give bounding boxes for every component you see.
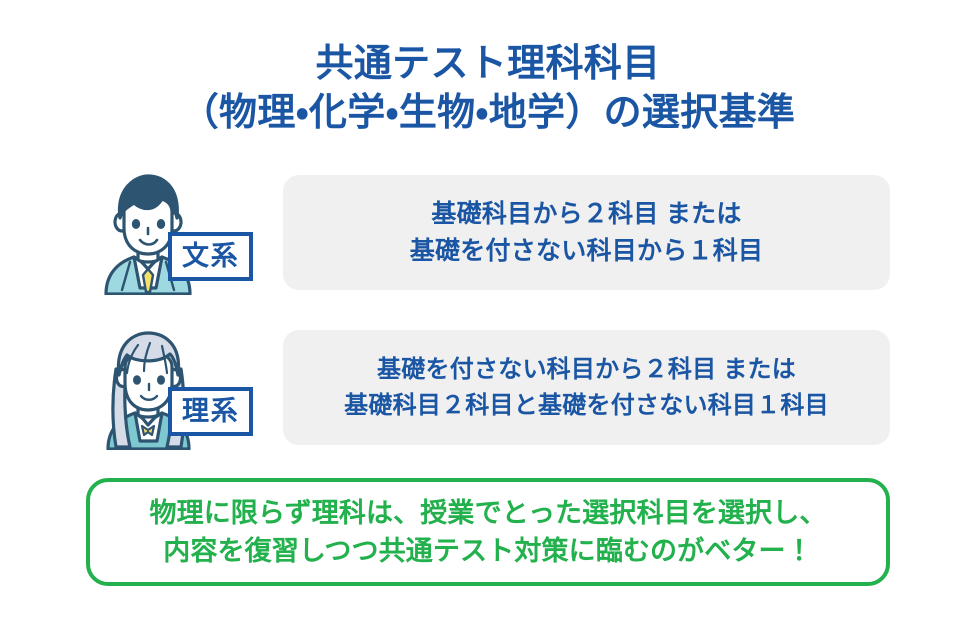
message-line-2: 基礎を付さない科目から１科目 — [410, 233, 764, 270]
page-title-line-2: （物理・化学・生物・地学）の選択基準 — [0, 89, 976, 138]
page-title: 共通テスト理科科目 （物理・化学・生物・地学）の選択基準 — [0, 40, 976, 139]
stream-row-bunkei: 文系 基礎科目から２科目 または 基礎を付さない科目から１科目 — [0, 170, 976, 295]
page-title-line-1: 共通テスト理科科目 — [0, 40, 976, 89]
avatar-group-bunkei: 文系 — [86, 170, 271, 295]
avatar-group-rikei: 理系 — [86, 325, 271, 450]
message-text-rikei: 基礎を付さない科目から２科目 または 基礎科目２科目と基礎を付さない科目１科目 — [344, 352, 829, 423]
advice-text: 物理に限らず理科は、授業でとった選択科目を選択し、 内容を復習しつつ共通テスト対… — [149, 494, 826, 571]
message-line-1: 基礎を付さない科目から２科目 または — [344, 352, 829, 388]
advice-line-2: 内容を復習しつつ共通テスト対策に臨むのがベター！ — [149, 532, 826, 570]
message-box-rikei: 基礎を付さない科目から２科目 または 基礎科目２科目と基礎を付さない科目１科目 — [283, 330, 890, 445]
message-text-bunkei: 基礎科目から２科目 または 基礎を付さない科目から１科目 — [410, 196, 764, 270]
message-line-2: 基礎科目２科目と基礎を付さない科目１科目 — [344, 388, 829, 424]
advice-line-1: 物理に限らず理科は、授業でとった選択科目を選択し、 — [149, 494, 826, 532]
stream-row-rikei: 理系 基礎を付さない科目から２科目 または 基礎科目２科目と基礎を付さない科目１… — [0, 325, 976, 450]
stream-badge-rikei: 理系 — [168, 387, 253, 436]
message-box-bunkei: 基礎科目から２科目 または 基礎を付さない科目から１科目 — [283, 175, 890, 290]
advice-callout: 物理に限らず理科は、授業でとった選択科目を選択し、 内容を復習しつつ共通テスト対… — [86, 478, 890, 586]
stream-badge-bunkei: 文系 — [168, 232, 253, 281]
infographic-root: 共通テスト理科科目 （物理・化学・生物・地学）の選択基準 — [0, 0, 976, 635]
message-line-1: 基礎科目から２科目 または — [410, 196, 764, 233]
